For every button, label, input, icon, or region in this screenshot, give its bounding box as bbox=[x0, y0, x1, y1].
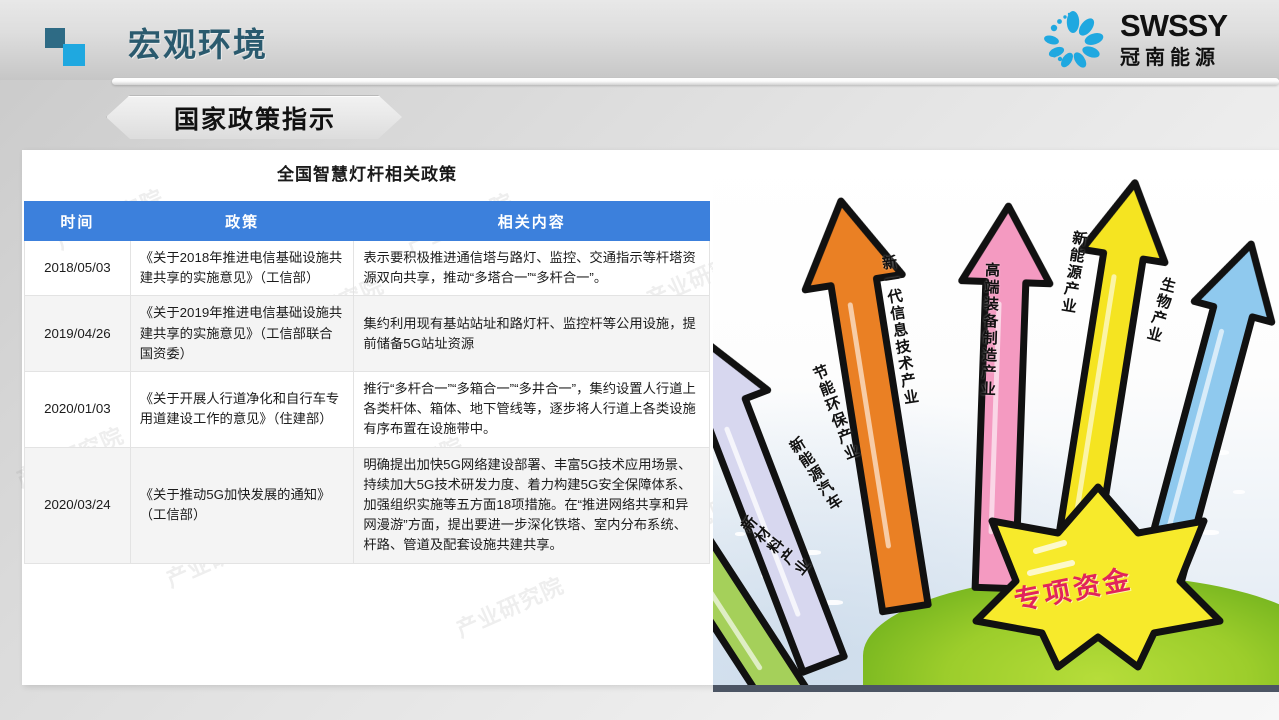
cell-detail: 推行“多杆合一”“多箱合一”“多井合一”，集约设置人行道上各类杆体、箱体、地下管… bbox=[354, 372, 710, 448]
table-row: 2018/05/03 《关于2018年推进电信基础设施共建共享的实施意见》（工信… bbox=[25, 241, 710, 296]
header-divider-rule bbox=[112, 78, 1279, 85]
logo-squares bbox=[45, 28, 91, 64]
brand-name-cn: 冠南能源 bbox=[1120, 46, 1227, 71]
table-row: 2019/04/26 《关于2019年推进电信基础设施共建共享的实施意见》（工信… bbox=[25, 296, 710, 372]
page-title: 宏观环境 bbox=[128, 18, 268, 66]
column-header-date: 时间 bbox=[25, 202, 131, 241]
cell-detail: 明确提出加快5G网络建设部署、丰富5G技术应用场景、持续加大5G技术研发力度、着… bbox=[354, 447, 710, 563]
brand-name-en: SWSSY bbox=[1120, 10, 1227, 41]
brand-text: SWSSY 冠南能源 bbox=[1120, 10, 1227, 71]
table-title: 全国智慧灯杆相关政策 bbox=[22, 160, 712, 185]
section-banner: 国家政策指示 bbox=[106, 95, 404, 141]
industry-arrows-illustration: 生物产业 新能源产业 高端装备制造产业 新一代信息技术产业 bbox=[713, 150, 1279, 692]
cell-policy: 《关于开展人行道净化和自行车专用道建设工作的意见》（住建部） bbox=[130, 372, 354, 448]
column-header-policy: 政策 bbox=[130, 202, 354, 241]
table-row: 2020/01/03 《关于开展人行道净化和自行车专用道建设工作的意见》（住建部… bbox=[25, 372, 710, 448]
water-drop-petal-icon bbox=[1040, 9, 1106, 71]
cell-policy: 《关于2018年推进电信基础设施共建共享的实施意见》（工信部） bbox=[130, 241, 354, 296]
cell-detail: 表示要积极推进通信塔与路灯、监控、交通指示等杆塔资源双向共享，推动“多塔合一”“… bbox=[354, 241, 710, 296]
cell-detail: 集约利用现有基站站址和路灯杆、监控杆等公用设施，提前储备5G站址资源 bbox=[354, 296, 710, 372]
cell-date: 2020/03/24 bbox=[25, 447, 131, 563]
section-banner-label: 国家政策指示 bbox=[174, 100, 336, 136]
brand-logo: SWSSY 冠南能源 bbox=[1040, 8, 1227, 72]
cell-date: 2019/04/26 bbox=[25, 296, 131, 372]
cell-date: 2018/05/03 bbox=[25, 241, 131, 296]
table-row: 2020/03/24 《关于推动5G加快发展的通知》（工信部） 明确提出加快5G… bbox=[25, 447, 710, 563]
cell-policy: 《关于2019年推进电信基础设施共建共享的实施意见》（工信部联合国资委） bbox=[130, 296, 354, 372]
content-panel: 全国智慧灯杆相关政策 产业研究院 产业研究院 产业研究院 产业研究院 产业研究院… bbox=[22, 150, 1279, 685]
cell-policy: 《关于推动5G加快发展的通知》（工信部） bbox=[130, 447, 354, 563]
cell-date: 2020/01/03 bbox=[25, 372, 131, 448]
policy-table-container: 全国智慧灯杆相关政策 产业研究院 产业研究院 产业研究院 产业研究院 产业研究院… bbox=[22, 150, 735, 685]
column-header-detail: 相关内容 bbox=[354, 202, 710, 241]
watermark: 产业研究院 bbox=[450, 568, 568, 644]
logo-square-dark bbox=[45, 28, 65, 48]
policy-table: 时间 政策 相关内容 2018/05/03 《关于2018年推进电信基础设施共建… bbox=[24, 201, 710, 564]
logo-square-bright bbox=[63, 44, 85, 66]
page-header: 宏观环境 bbox=[0, 0, 1279, 80]
table-header-row: 时间 政策 相关内容 bbox=[25, 202, 710, 241]
